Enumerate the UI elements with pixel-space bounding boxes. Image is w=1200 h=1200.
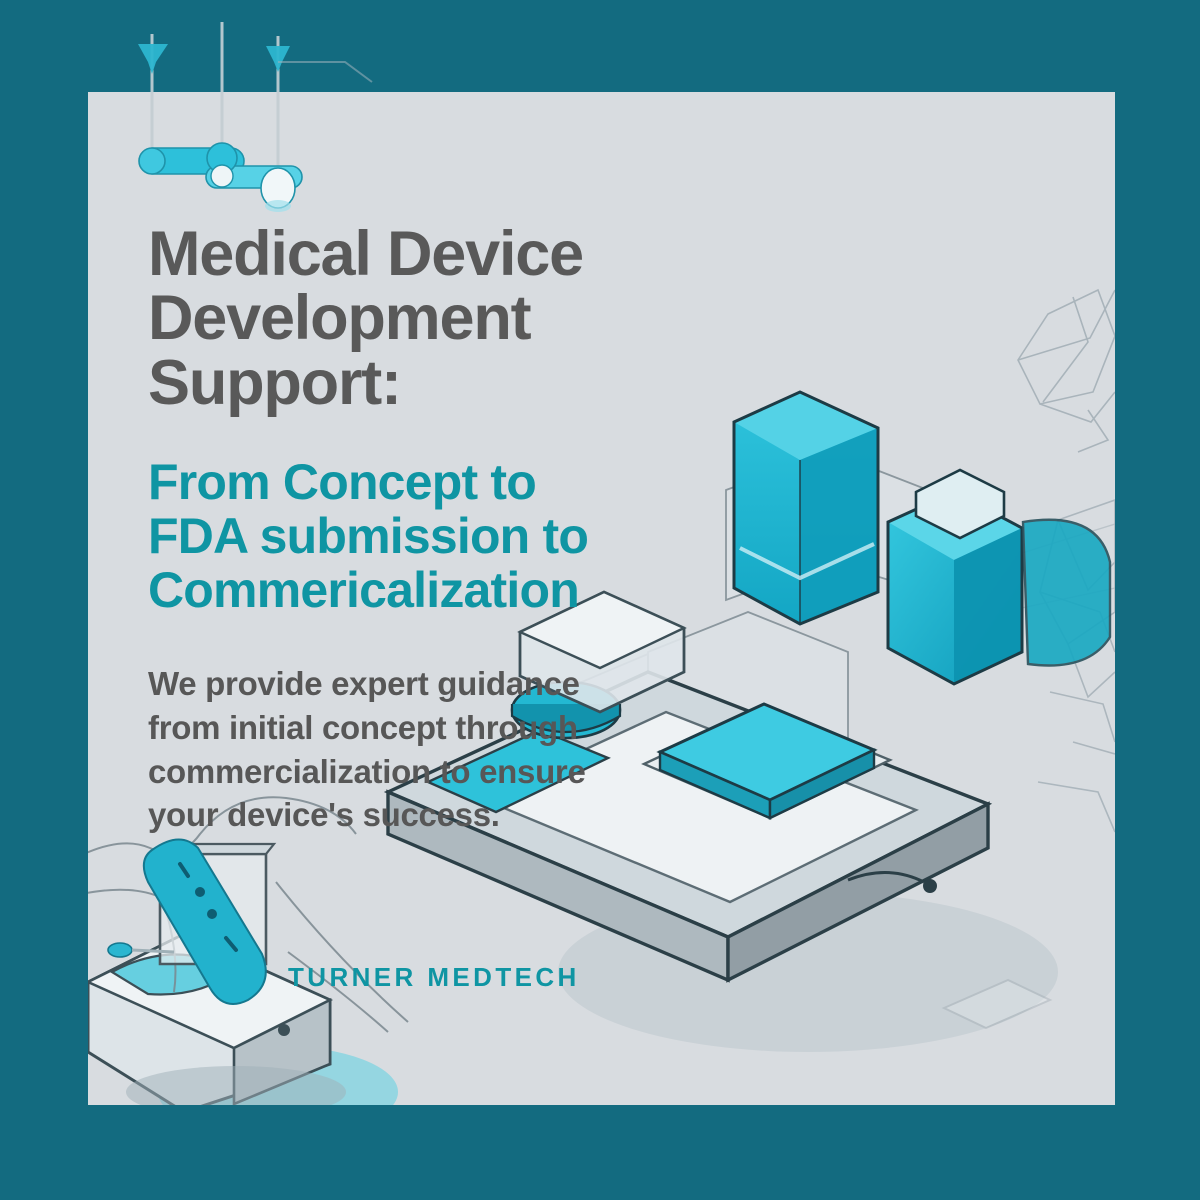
brand-name: TURNER MEDTECH bbox=[288, 962, 580, 993]
page-title: Medical Device Development Support: bbox=[148, 222, 788, 415]
subtitle: From Concept to FDA submission to Commer… bbox=[148, 455, 788, 617]
body-copy: We provide expert guidance from initial … bbox=[148, 662, 788, 838]
poster-canvas: Medical Device Development Support: From… bbox=[0, 0, 1200, 1200]
content-panel: Medical Device Development Support: From… bbox=[88, 92, 1115, 1105]
text-block: Medical Device Development Support: From… bbox=[148, 222, 788, 837]
